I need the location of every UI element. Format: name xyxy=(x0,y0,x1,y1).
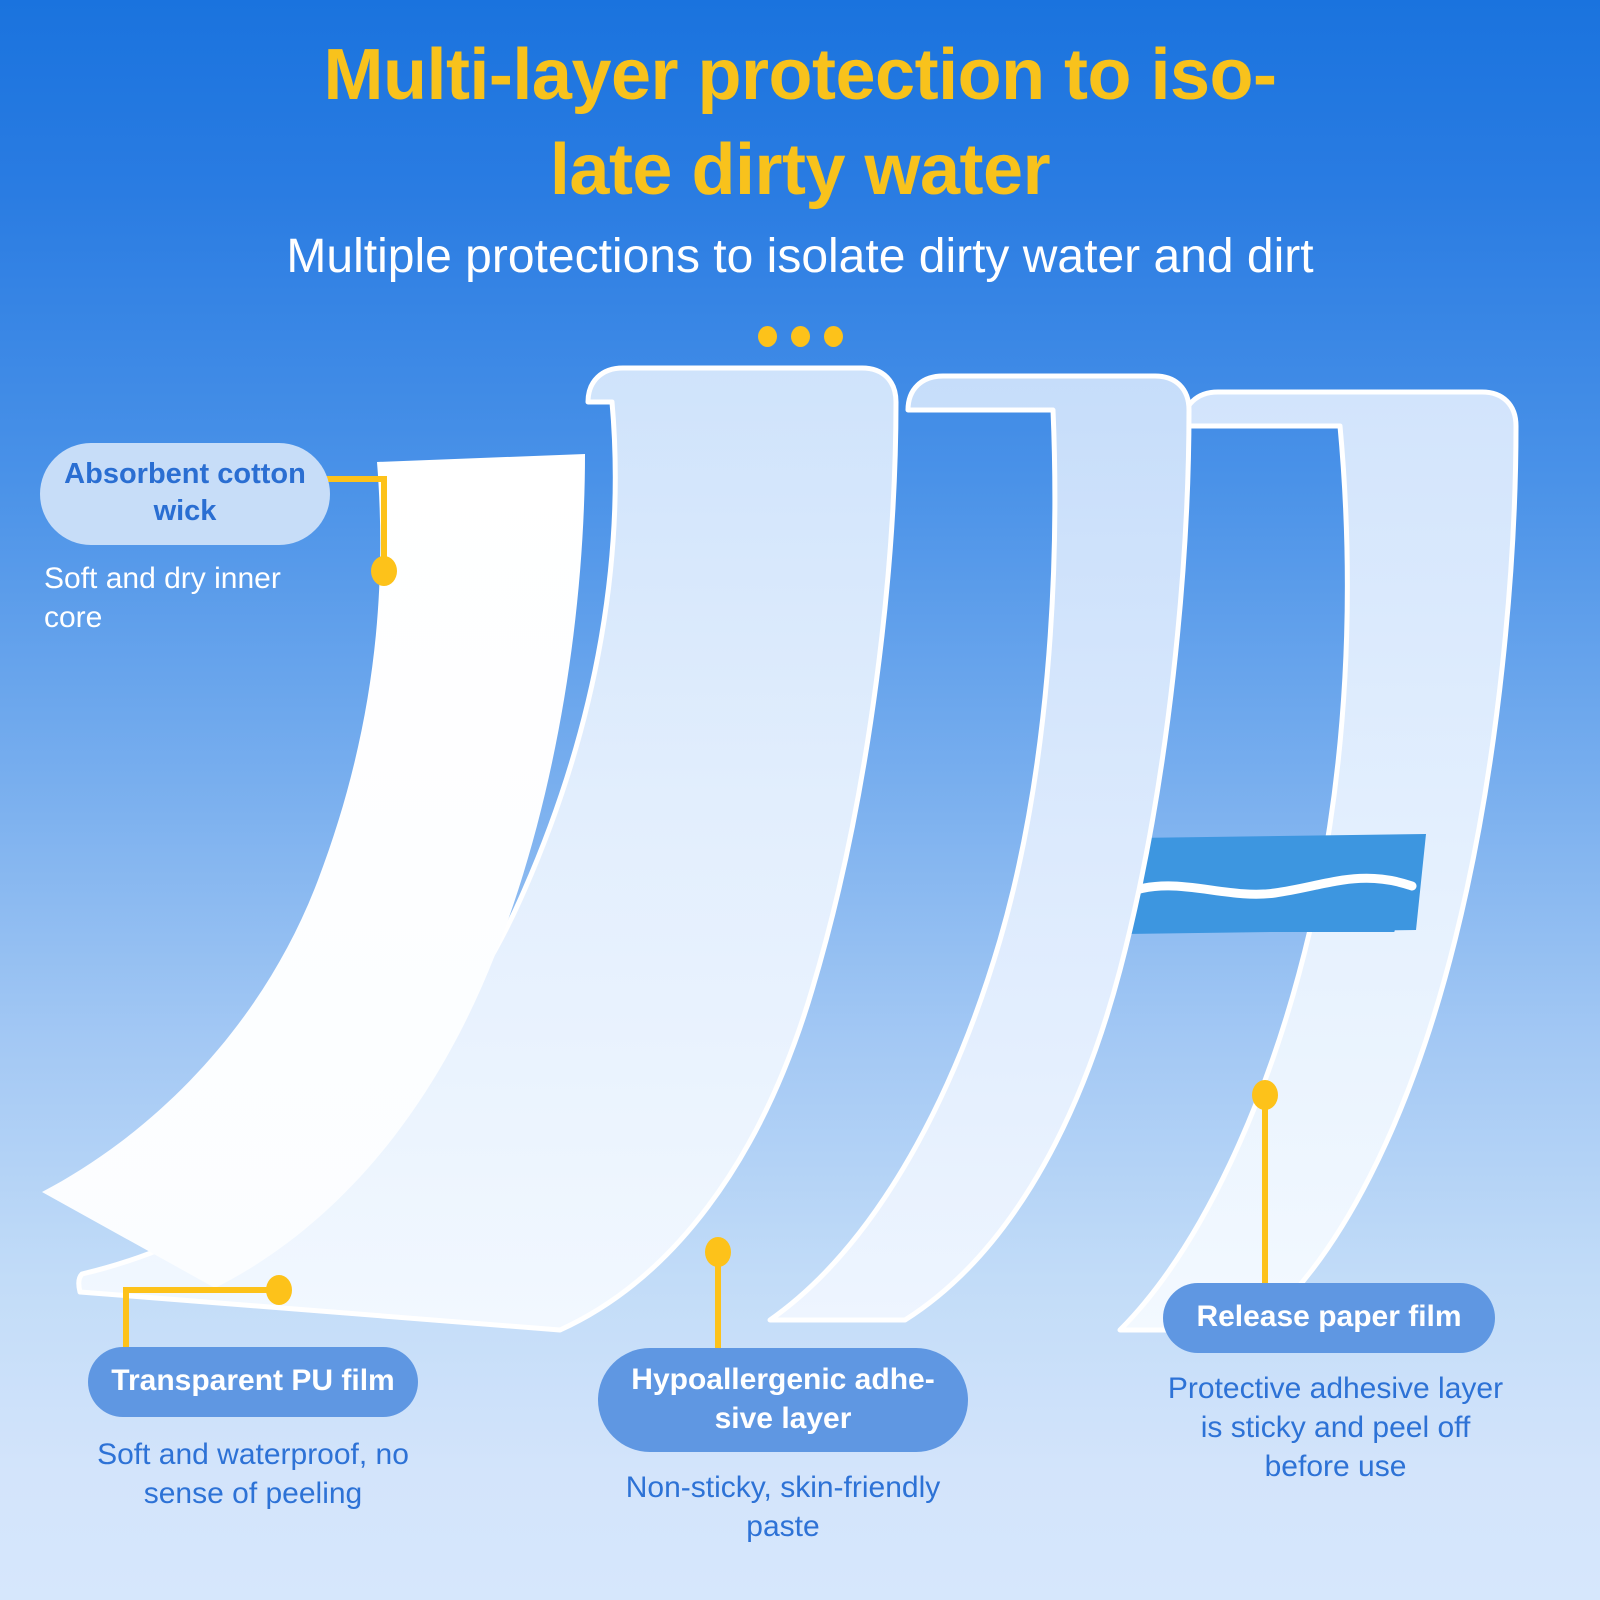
callout-caption-transparent-pu-film: Soft and waterproof, no sense of peeling xyxy=(88,1435,418,1513)
dot-icon xyxy=(824,326,843,347)
page-subtitle: Multiple protections to isolate dirty wa… xyxy=(100,228,1500,286)
callout-absorbent-cotton-wick: Absorbent cotton wick Soft and dry inner… xyxy=(40,443,400,637)
callout-transparent-pu-film: Transparent PU film Soft and waterproof,… xyxy=(88,1347,418,1513)
callout-hypoallergenic-adhesive-layer: Hypoallergenic adhe-sive layer Non-stick… xyxy=(598,1348,968,1546)
dot-icon xyxy=(791,326,810,347)
page-title: Multi-layer protection to iso- late dirt… xyxy=(140,28,1460,218)
infographic-page: Multi-layer protection to iso- late dirt… xyxy=(0,0,1600,1600)
callout-caption-hypoallergenic-adhesive-layer: Non-sticky, skin-friendly paste xyxy=(598,1468,968,1546)
leader-line-adhesive xyxy=(705,1237,731,1352)
callout-caption-release-paper-film: Protective adhesive layer is sticky and … xyxy=(1163,1369,1508,1486)
decorative-dots xyxy=(0,326,1600,347)
callout-caption-absorbent-cotton-wick: Soft and dry inner core xyxy=(40,559,344,637)
callout-label-transparent-pu-film: Transparent PU film xyxy=(88,1347,418,1417)
callout-release-paper-film: Release paper film Protective adhesive l… xyxy=(1163,1283,1495,1486)
dot-icon xyxy=(758,326,777,347)
callout-label-absorbent-cotton-wick: Absorbent cotton wick xyxy=(40,443,330,545)
callout-label-release-paper-film: Release paper film xyxy=(1163,1283,1495,1353)
callout-label-hypoallergenic-adhesive-layer: Hypoallergenic adhe-sive layer xyxy=(598,1348,968,1452)
